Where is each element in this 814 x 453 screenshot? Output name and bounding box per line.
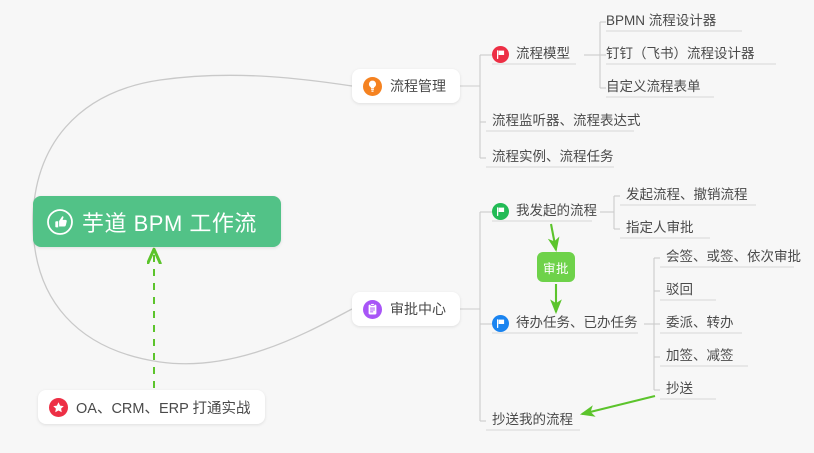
star-icon [49, 398, 68, 417]
integration-node[interactable]: OA、CRM、ERP 打通实战 [38, 390, 265, 424]
leaf-cc-to-me-flows[interactable]: 抄送我的流程 [486, 411, 579, 434]
flag-icon [492, 315, 509, 332]
leaf-custom-process-form[interactable]: 自定义流程表单 [600, 78, 707, 101]
thumbs-up-icon [47, 209, 73, 235]
node-todo-done-tasks-label: 待办任务、已办任务 [516, 314, 638, 332]
leaf-add-remove-signer[interactable]: 加签、减签 [660, 347, 740, 370]
leaf-carbon-copy[interactable]: 抄送 [660, 380, 699, 403]
leaf-delegate-transfer[interactable]: 委派、转办 [660, 314, 740, 337]
leaf-dingtalk-feishu-designer[interactable]: 钉钉（飞书）流程设计器 [600, 45, 761, 68]
branch-label-process-management: 流程管理 [390, 76, 446, 96]
leaf-start-cancel-process[interactable]: 发起流程、撤销流程 [620, 186, 754, 209]
node-my-initiated-flows-label: 我发起的流程 [516, 202, 597, 220]
annotation-tag-approve: 审批 [537, 252, 575, 282]
leaf-assignee-approval[interactable]: 指定人审批 [620, 219, 700, 242]
leaf-reject[interactable]: 驳回 [660, 281, 699, 304]
node-process-model[interactable]: 流程模型 [488, 45, 576, 68]
lightbulb-icon [363, 77, 382, 96]
root-label: 芋道 BPM 工作流 [82, 206, 257, 238]
leaf-process-listener-expression[interactable]: 流程监听器、流程表达式 [486, 112, 647, 135]
flag-icon [492, 203, 509, 220]
node-process-model-label: 流程模型 [516, 45, 570, 63]
branch-node-approval-center[interactable]: 审批中心 [352, 292, 460, 326]
integration-node-label: OA、CRM、ERP 打通实战 [76, 397, 251, 418]
leaf-process-instance-task[interactable]: 流程实例、流程任务 [486, 148, 620, 171]
clipboard-icon [363, 300, 382, 319]
root-node[interactable]: 芋道 BPM 工作流 [33, 196, 281, 247]
leaf-bpmn-designer[interactable]: BPMN 流程设计器 [600, 12, 722, 35]
node-my-initiated-flows[interactable]: 我发起的流程 [488, 202, 603, 225]
branch-label-approval-center: 审批中心 [390, 299, 446, 319]
branch-node-process-management[interactable]: 流程管理 [352, 69, 460, 103]
node-todo-done-tasks[interactable]: 待办任务、已办任务 [488, 314, 644, 337]
leaf-countersign-orsign-sequential[interactable]: 会签、或签、依次审批 [660, 248, 807, 271]
mindmap-canvas: 芋道 BPM 工作流 流程管理 审批中心 [0, 0, 814, 453]
flag-icon [492, 46, 509, 63]
